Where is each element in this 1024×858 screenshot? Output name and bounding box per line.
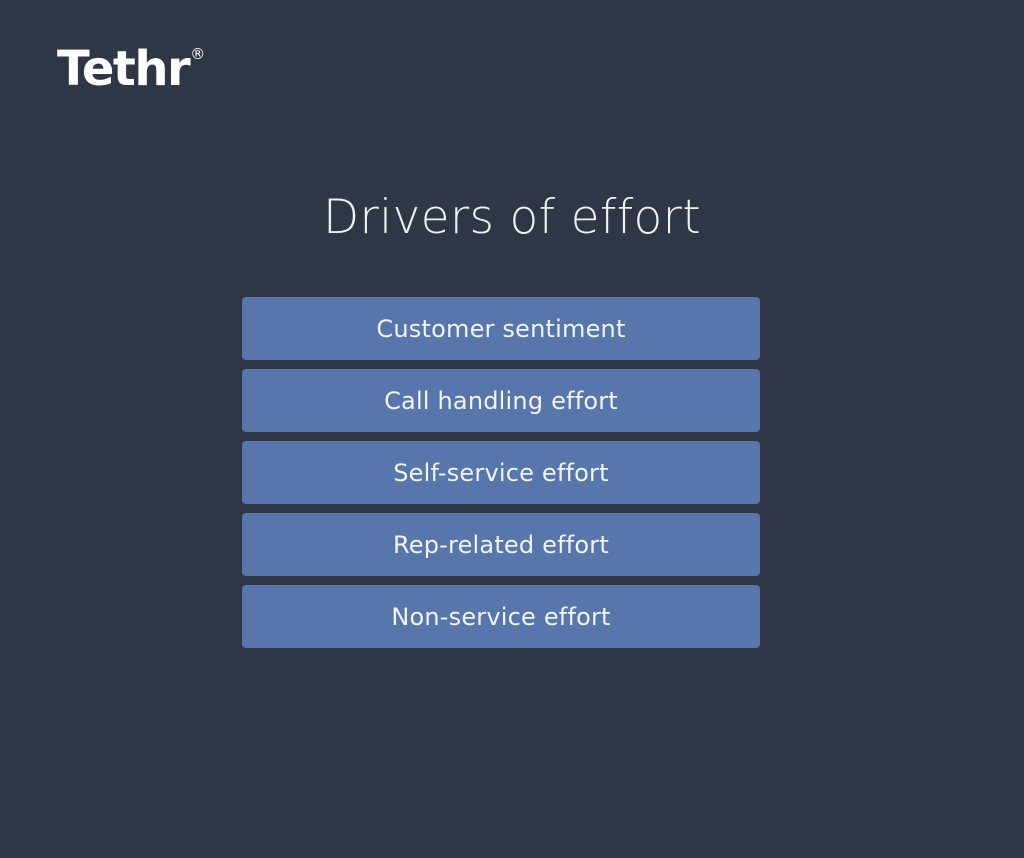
tethr-wordmark: Tethr bbox=[57, 45, 189, 93]
driver-bar-non-service-effort[interactable]: Non-service effort bbox=[242, 585, 760, 648]
driver-label: Non-service effort bbox=[391, 605, 610, 629]
driver-label: Customer sentiment bbox=[376, 317, 625, 341]
driver-bar-self-service-effort[interactable]: Self-service effort bbox=[242, 441, 760, 504]
slide-title: Drivers of effort bbox=[0, 190, 1024, 245]
driver-bar-customer-sentiment[interactable]: Customer sentiment bbox=[242, 297, 760, 360]
driver-bar-rep-related-effort[interactable]: Rep-related effort bbox=[242, 513, 760, 576]
driver-label: Call handling effort bbox=[384, 389, 618, 413]
driver-bar-call-handling-effort[interactable]: Call handling effort bbox=[242, 369, 760, 432]
driver-label: Self-service effort bbox=[393, 461, 609, 485]
registered-trademark-icon: ® bbox=[190, 47, 205, 62]
slide-canvas: Tethr ® Drivers of effort Customer senti… bbox=[0, 0, 1024, 858]
tethr-logo: Tethr ® bbox=[57, 45, 205, 93]
driver-label: Rep-related effort bbox=[393, 533, 609, 557]
drivers-list: Customer sentiment Call handling effort … bbox=[242, 297, 760, 648]
